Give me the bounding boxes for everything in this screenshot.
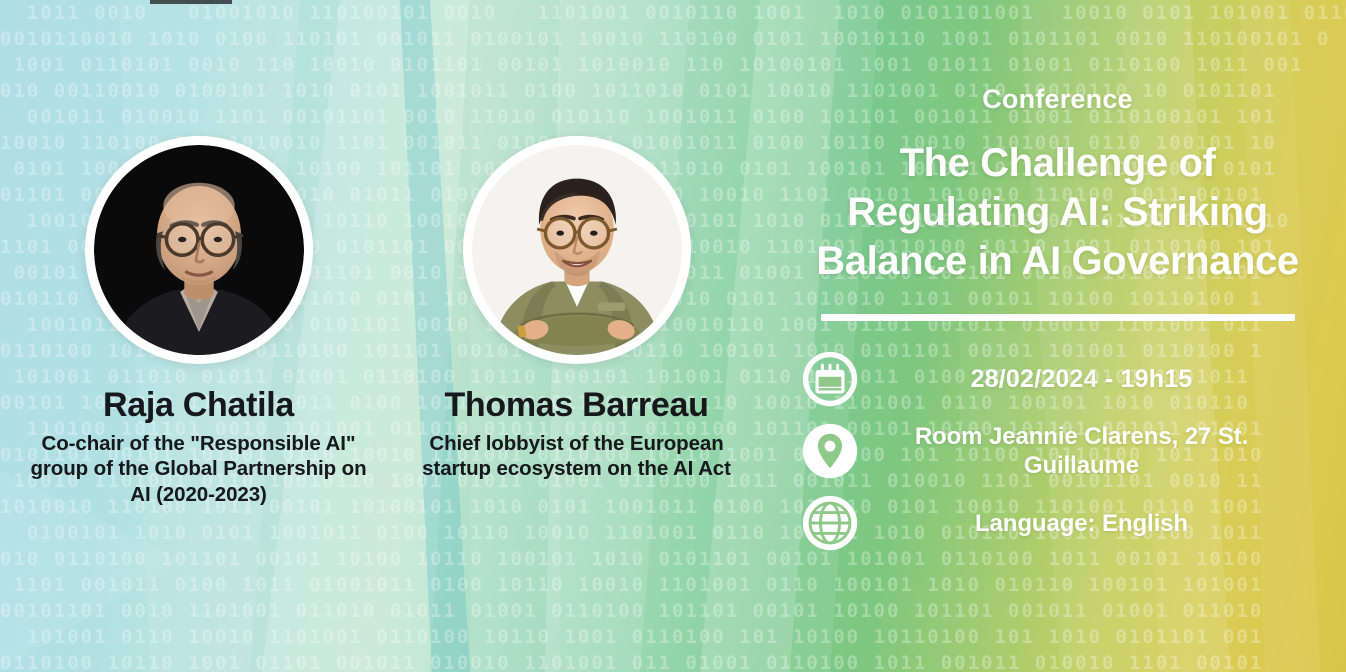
portrait-thomas-barreau: [472, 145, 682, 355]
speaker-role: Chief lobbyist of the European startup e…: [403, 431, 751, 482]
speakers-section: Raja Chatila Co-chair of the "Responsibl…: [0, 0, 775, 672]
avatar: [85, 136, 313, 364]
detail-row-date: 28/02/2024 - 19h15: [797, 343, 1318, 415]
page-title: The Challenge of Regulating AI: Striking…: [797, 139, 1318, 285]
location-pin-icon: [797, 418, 863, 484]
portrait-raja-chatila: [94, 145, 304, 355]
detail-row-language: Language: English: [797, 487, 1318, 559]
calendar-icon: [797, 346, 863, 412]
speaker-card: Thomas Barreau Chief lobbyist of the Eur…: [403, 136, 751, 482]
conference-poster: 1011 0010 01001010 110100101 0010 110100…: [0, 0, 1346, 672]
event-location: Room Jeannie Clarens, 27 St. Guillaume: [871, 422, 1318, 481]
detail-row-location: Room Jeannie Clarens, 27 St. Guillaume: [797, 415, 1318, 487]
event-datetime: 28/02/2024 - 19h15: [871, 364, 1318, 395]
event-info-panel: Conference The Challenge of Regulating A…: [775, 0, 1346, 672]
speaker-name: Thomas Barreau: [403, 388, 751, 424]
speaker-name: Raja Chatila: [25, 388, 373, 424]
speaker-role: Co-chair of the "Responsible AI" group o…: [25, 431, 373, 507]
speaker-card: Raja Chatila Co-chair of the "Responsibl…: [25, 136, 373, 507]
event-type-label: Conference: [797, 84, 1318, 115]
avatar: [463, 136, 691, 364]
details-list: 28/02/2024 - 19h15 Room Jeannie Clarens,…: [797, 343, 1318, 559]
divider: [821, 314, 1295, 321]
globe-icon: [797, 490, 863, 556]
event-language: Language: English: [871, 509, 1318, 538]
